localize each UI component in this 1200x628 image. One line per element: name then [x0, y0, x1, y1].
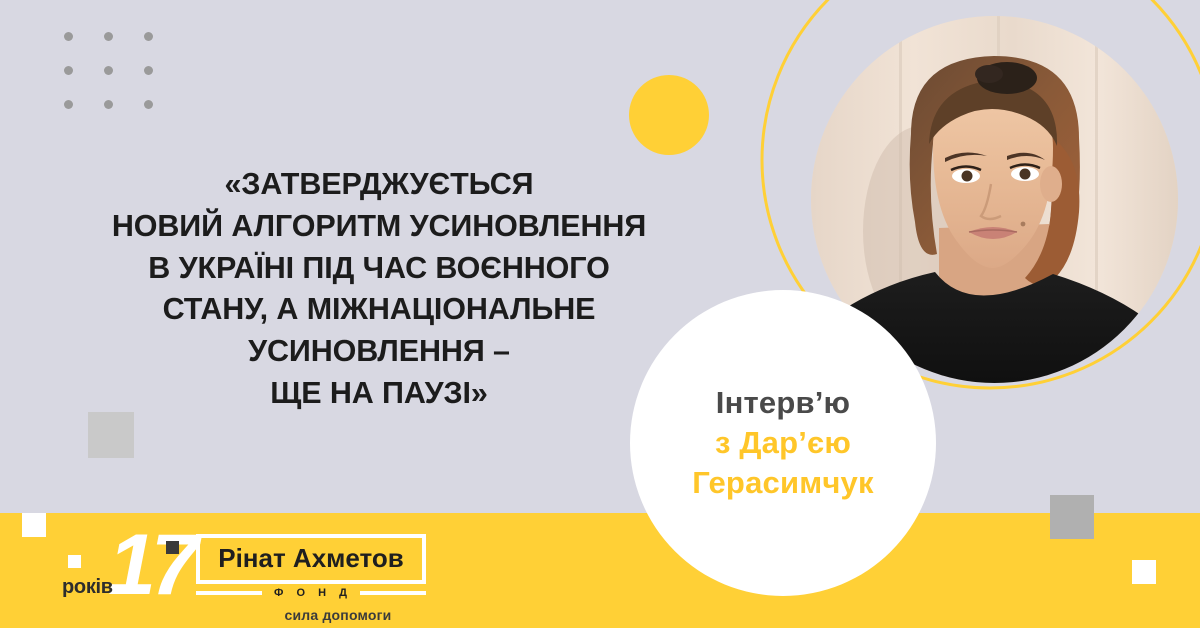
logo-tagline: сила допомоги: [196, 607, 426, 623]
yellow-circle-decoration: [629, 75, 709, 155]
interview-caption-circle: Інтерв’ю з Дар’єю Герасимчук: [630, 290, 936, 596]
dot-grid-decoration: [64, 32, 184, 134]
anniversary-mark: 17 років: [60, 528, 190, 610]
anniversary-number: 17: [108, 522, 194, 608]
caption-line-with-name: з Дар’єю: [715, 423, 851, 463]
quote-line-4: СТАНУ, А МІЖНАЦІОНАЛЬНЕ: [24, 289, 734, 331]
grid-dot: [104, 32, 113, 41]
quote-line-1: «ЗАТВЕРДЖУЄТЬСЯ: [24, 164, 734, 206]
grid-dot: [64, 66, 73, 75]
anniversary-square-accent: [68, 555, 81, 568]
logo-fond-word: Ф О Н Д: [270, 587, 352, 599]
grid-dot: [64, 32, 73, 41]
grid-dot: [144, 66, 153, 75]
quote-text: «ЗАТВЕРДЖУЄТЬСЯ НОВИЙ АЛГОРИТМ УСИНОВЛЕН…: [24, 164, 734, 415]
logo-rule-left: [196, 591, 262, 595]
white-square-decoration-right: [1132, 560, 1156, 584]
caption-line-surname: Герасимчук: [692, 463, 873, 503]
quote-line-5: УСИНОВЛЕННЯ –: [24, 331, 734, 373]
anniversary-label: років: [62, 576, 113, 599]
grid-dot: [144, 32, 153, 41]
white-square-decoration-left: [22, 513, 46, 537]
logo-frame: Рінат Ахметов: [196, 534, 426, 584]
grid-dot: [104, 66, 113, 75]
grey-square-decoration-left: [88, 412, 134, 458]
quote-line-2: НОВИЙ АЛГОРИТМ УСИНОВЛЕННЯ: [24, 206, 734, 248]
grey-square-decoration-right: [1050, 495, 1094, 539]
quote-line-6: ЩЕ НА ПАУЗІ»: [24, 373, 734, 415]
social-banner: «ЗАТВЕРДЖУЄТЬСЯ НОВИЙ АЛГОРИТМ УСИНОВЛЕН…: [0, 0, 1200, 628]
grid-dot: [104, 100, 113, 109]
logo-subtitle-row: Ф О Н Д: [196, 587, 426, 599]
grid-dot: [144, 100, 153, 109]
foundation-logo: Рінат Ахметов Ф О Н Д сила допомоги: [196, 534, 426, 623]
grid-dot: [64, 100, 73, 109]
anniversary-dark-square-accent: [166, 541, 179, 554]
logo-name: Рінат Ахметов: [210, 543, 412, 574]
quote-line-3: В УКРАЇНІ ПІД ЧАС ВОЄННОГО: [24, 248, 734, 290]
caption-line-interview: Інтерв’ю: [716, 383, 850, 423]
logo-rule-right: [360, 591, 426, 595]
